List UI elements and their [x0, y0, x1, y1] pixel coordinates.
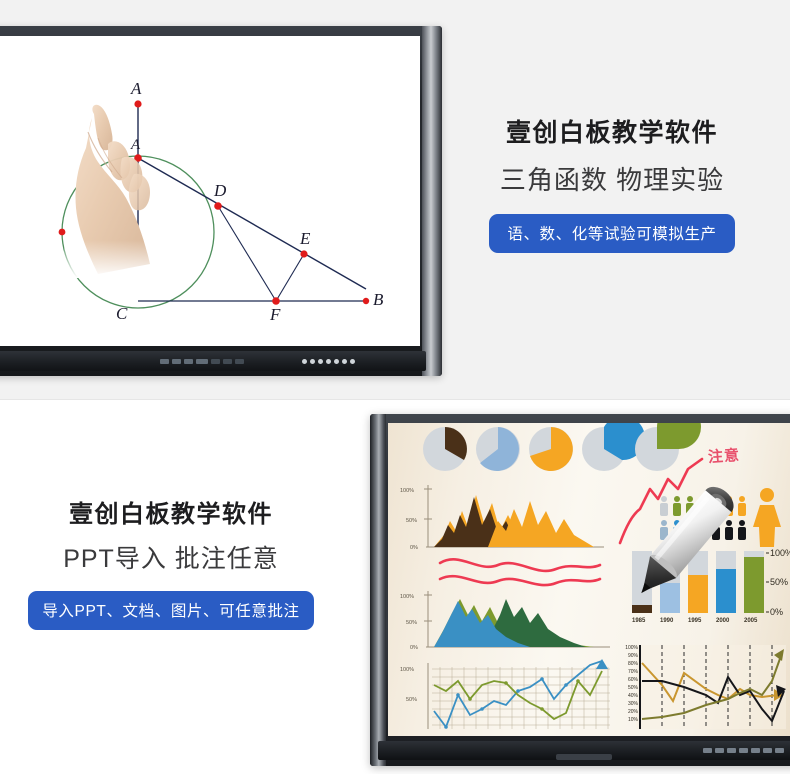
lower-ytick-50: 50%	[406, 620, 417, 626]
grid-line-chart: 100% 50%	[400, 659, 610, 729]
pie-chart-1	[423, 427, 467, 471]
upper-area-chart: 100% 50% 0%	[400, 485, 604, 551]
top-subheadline: 三角函数 物理实验	[452, 165, 772, 196]
bar-xtick-2000: 2000	[716, 618, 730, 624]
geometry-diagram: A A C D E F B	[0, 36, 420, 346]
control-button-5[interactable]	[751, 748, 760, 753]
dash-ytick-80: 80%	[628, 661, 639, 667]
bottom-subheadline: PPT导入 批注任意	[6, 544, 336, 574]
dash-ytick-50: 50%	[628, 685, 639, 691]
speaker-hole	[310, 359, 315, 364]
monitor-control-bar[interactable]	[0, 351, 426, 371]
bar-xtick-1995: 1995	[688, 618, 702, 624]
dash-ytick-40: 40%	[628, 693, 639, 699]
red-annotation-strokes	[440, 559, 600, 585]
ytick-100: 100%	[400, 488, 414, 494]
dash-ytick-10: 10%	[628, 717, 639, 723]
control-button-3[interactable]	[727, 748, 736, 753]
bar-xtick-2005: 2005	[744, 618, 758, 624]
section-bottom: 壹创白板教学软件 PPT导入 批注任意 导入PPT、文档、图片、可任意批注	[0, 400, 790, 774]
segment-a-to-b	[138, 158, 366, 289]
top-headline: 壹创白板教学软件	[452, 118, 772, 149]
top-copy-block: 壹创白板教学软件 三角函数 物理实验 语、数、化等试验可模拟生产	[452, 118, 772, 253]
dash-ytick-20: 20%	[628, 709, 639, 715]
pie-chart-3	[529, 427, 573, 471]
point-circle-left[interactable]	[59, 229, 66, 236]
dash-ytick-30: 30%	[628, 701, 639, 707]
annotation-note-text: 注意	[707, 444, 740, 467]
control-button-3[interactable]	[184, 359, 193, 364]
control-button-2[interactable]	[172, 359, 181, 364]
control-button-6[interactable]	[235, 359, 244, 364]
speaker-hole	[302, 359, 307, 364]
point-label-f: F	[269, 305, 281, 324]
speaker-hole	[318, 359, 323, 364]
infographic-dashboard: 100% 50% 0%	[388, 423, 790, 736]
control-button-6[interactable]	[763, 748, 772, 753]
bottom-feature-pill[interactable]: 导入PPT、文档、图片、可任意批注	[28, 591, 313, 630]
grid-ytick-100: 100%	[400, 667, 414, 673]
camera-notch	[556, 754, 612, 760]
monitor-bezel-left-edge	[370, 414, 386, 766]
point-b[interactable]	[363, 298, 369, 304]
bar-xtick-1990: 1990	[660, 618, 674, 624]
point-a-circle[interactable]	[134, 154, 142, 162]
segment-f-to-e	[276, 254, 304, 301]
point-label-a-circle: A	[130, 137, 141, 153]
speaker-hole	[350, 359, 355, 364]
dash-ytick-90: 90%	[628, 653, 639, 659]
stacked-year-bar-chart: 1985 1990 1995 2000 2005 100% 50% 0%	[632, 548, 790, 624]
monitor-bezel-right-edge	[422, 26, 442, 376]
bottom-copy-block: 壹创白板教学软件 PPT导入 批注任意 导入PPT、文档、图片、可任意批注	[6, 500, 336, 630]
dash-ytick-70: 70%	[628, 669, 639, 675]
people-pictogram-group	[660, 488, 781, 547]
control-button-power[interactable]	[196, 359, 208, 364]
point-label-a-top: A	[130, 79, 142, 98]
section-top: A A C D E F B	[0, 0, 790, 400]
pie-chart-5	[635, 423, 701, 471]
interactive-whiteboard-display-bottom[interactable]: 100% 50% 0%	[370, 414, 790, 766]
dash-ytick-100: 100%	[625, 645, 638, 651]
control-button-2[interactable]	[715, 748, 724, 753]
control-button-1[interactable]	[160, 359, 169, 364]
whiteboard-screen[interactable]: A A C D E F B	[0, 36, 420, 346]
speaker-hole	[334, 359, 339, 364]
large-female-pictogram	[753, 488, 781, 547]
control-button-1[interactable]	[703, 748, 712, 753]
pie-chart-row	[423, 423, 701, 471]
lower-ytick-0: 0%	[410, 645, 418, 651]
speaker-hole	[326, 359, 331, 364]
dashed-panel-line-chart: 100% 90% 80% 70% 60% 50% 40% 30% 20% 10%	[625, 645, 786, 729]
control-button-5[interactable]	[223, 359, 232, 364]
grid-ytick-50: 50%	[406, 697, 417, 703]
ytick-50: 50%	[406, 518, 417, 524]
point-d[interactable]	[214, 202, 222, 210]
bar-ytick-50: 50%	[770, 577, 788, 587]
point-label-b: B	[373, 290, 384, 309]
interactive-whiteboard-display-top[interactable]: A A C D E F B	[0, 26, 442, 376]
speaker-hole	[342, 359, 347, 364]
bar-ytick-100: 100%	[770, 548, 790, 558]
top-feature-pill[interactable]: 语、数、化等试验可模拟生产	[489, 214, 734, 253]
point-label-d: D	[213, 181, 227, 200]
bar-xtick-1985: 1985	[632, 618, 646, 624]
people-row-2	[660, 520, 746, 540]
point-label-c: C	[116, 304, 128, 323]
control-button-4[interactable]	[211, 359, 220, 364]
point-f[interactable]	[272, 297, 280, 305]
blue-series-arrow	[596, 659, 608, 669]
product-page: A A C D E F B	[0, 0, 790, 774]
lower-ytick-100: 100%	[400, 594, 414, 600]
pie-chart-2	[476, 427, 520, 471]
lower-area-chart: 100% 50% 0%	[400, 591, 610, 651]
point-e[interactable]	[300, 250, 307, 257]
control-button-power[interactable]	[775, 748, 784, 753]
bottom-headline: 壹创白板教学软件	[6, 500, 336, 530]
people-row-1	[660, 496, 746, 516]
point-label-e: E	[299, 229, 311, 248]
point-a-top[interactable]	[134, 100, 141, 107]
dashboard-screen[interactable]: 100% 50% 0%	[388, 423, 790, 736]
control-button-4[interactable]	[739, 748, 748, 753]
bar-ytick-0: 0%	[770, 607, 783, 617]
ytick-0: 0%	[410, 545, 418, 551]
dash-ytick-60: 60%	[628, 677, 639, 683]
